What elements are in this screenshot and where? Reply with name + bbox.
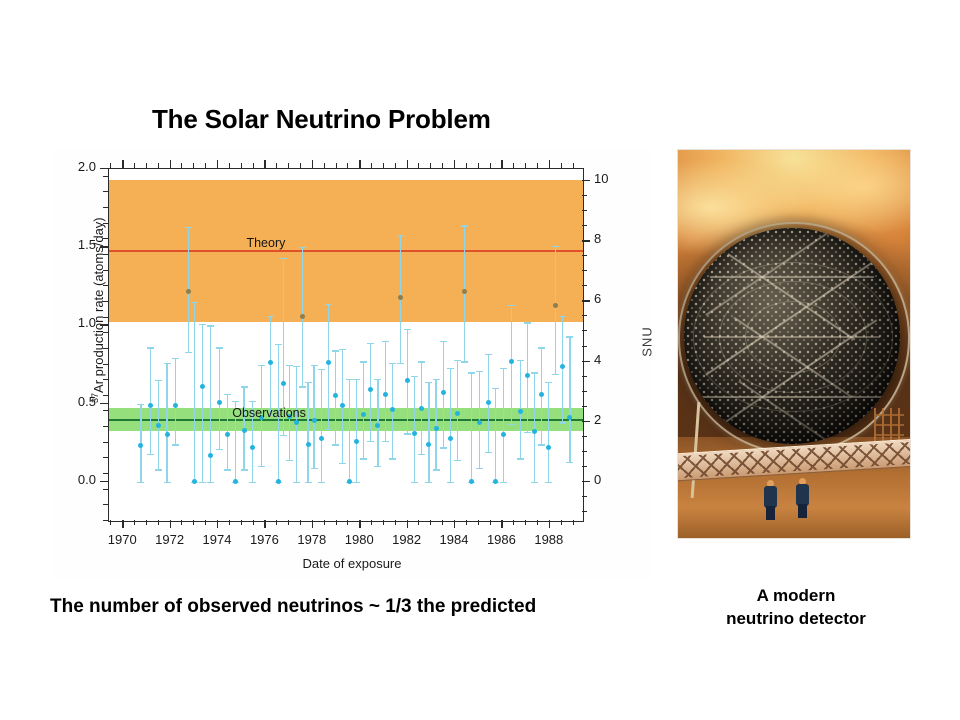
axis-tick: [170, 160, 171, 168]
axis-tick: [442, 163, 443, 168]
axis-tick: [537, 520, 538, 525]
error-bar-cap: [397, 235, 404, 236]
error-bar-cap: [241, 469, 248, 470]
error-bar-cap: [232, 401, 239, 402]
data-point: [455, 411, 460, 416]
axis-tick: [430, 163, 431, 168]
axis-tick: [478, 163, 479, 168]
axis-tick-label: 0: [594, 472, 628, 487]
error-bar: [457, 360, 458, 460]
data-point: [398, 295, 403, 300]
axis-tick-label: 4: [594, 352, 628, 367]
axis-tick: [103, 317, 108, 318]
error-bar-cap: [404, 433, 411, 434]
error-bar-cap: [293, 482, 300, 483]
error-bar: [428, 382, 429, 482]
error-bar-cap: [538, 444, 545, 445]
sphere-shading: [684, 228, 900, 444]
error-bar-cap: [552, 374, 559, 375]
error-bar-cap: [286, 365, 293, 366]
axis-tick: [300, 520, 301, 525]
error-bar: [548, 382, 549, 482]
axis-tick: [100, 246, 108, 247]
axis-tick: [582, 210, 587, 211]
axis-tick: [170, 520, 171, 528]
axis-tick: [110, 520, 111, 525]
error-bar-cap: [164, 363, 171, 364]
error-bar: [450, 368, 451, 482]
error-bar: [328, 304, 329, 429]
error-bar-cap: [433, 379, 440, 380]
error-bar-cap: [191, 302, 198, 303]
error-bar-cap: [389, 363, 396, 364]
error-bar-cap: [293, 366, 300, 367]
error-bar-cap: [531, 482, 538, 483]
axis-tick: [383, 163, 384, 168]
axis-tick: [288, 163, 289, 168]
axis-tick-label: 2.0: [54, 159, 96, 174]
data-point: [294, 420, 299, 425]
axis-tick: [122, 520, 123, 528]
axis-tick: [549, 160, 550, 168]
error-bar-cap: [566, 462, 573, 463]
data-point: [268, 360, 273, 365]
data-point: [340, 403, 345, 408]
error-bar-cap: [492, 388, 499, 389]
error-bar-cap: [280, 258, 287, 259]
worker-legs: [798, 504, 807, 518]
data-point: [532, 429, 537, 434]
error-bar-cap: [440, 447, 447, 448]
error-bar-cap: [332, 444, 339, 445]
data-point: [368, 387, 373, 392]
axis-tick: [181, 520, 182, 525]
axis-tick: [241, 520, 242, 525]
axis-tick: [466, 163, 467, 168]
axis-tick: [371, 163, 372, 168]
plot-area: Theory Observations: [108, 168, 584, 522]
data-point: [233, 479, 238, 484]
worker-body: [796, 484, 809, 506]
data-point: [560, 364, 565, 369]
error-bar: [569, 336, 570, 461]
data-point: [138, 443, 143, 448]
error-bar-cap: [346, 379, 353, 380]
data-point: [553, 303, 558, 308]
axis-tick: [276, 520, 277, 525]
axis-tick-label: 1988: [527, 532, 571, 547]
error-bar: [210, 325, 211, 481]
axis-tick: [103, 332, 108, 333]
axis-tick: [383, 520, 384, 525]
axis-tick: [103, 238, 108, 239]
error-bar: [219, 347, 220, 449]
worker-body: [764, 486, 777, 508]
error-bar-cap: [207, 482, 214, 483]
axis-tick: [513, 163, 514, 168]
axis-tick: [573, 520, 574, 525]
error-bar-cap: [508, 424, 515, 425]
error-bar: [166, 363, 167, 482]
axis-tick: [582, 270, 587, 271]
axis-tick: [582, 361, 590, 362]
data-point: [200, 384, 205, 389]
axis-tick: [103, 207, 108, 208]
axis-tick: [513, 520, 514, 525]
data-point: [493, 479, 498, 484]
error-bar-cap: [360, 458, 367, 459]
axis-tick: [324, 163, 325, 168]
axis-tick: [300, 163, 301, 168]
error-bar-cap: [382, 341, 389, 342]
error-bar-cap: [425, 482, 432, 483]
axis-tick: [359, 520, 360, 528]
error-bar-cap: [566, 336, 573, 337]
axis-tick: [336, 163, 337, 168]
axis-tick: [103, 457, 108, 458]
data-point: [434, 426, 439, 431]
data-point: [281, 381, 286, 386]
axis-tick: [454, 160, 455, 168]
axis-tick: [158, 520, 159, 525]
error-bar-cap: [374, 379, 381, 380]
axis-tick: [241, 163, 242, 168]
error-bar-cap: [332, 350, 339, 351]
axis-tick: [103, 191, 108, 192]
photo-caption-line1: A modern: [672, 584, 920, 607]
axis-tick: [582, 255, 587, 256]
data-point: [208, 453, 213, 458]
axis-tick: [158, 163, 159, 168]
error-bar-cap: [275, 344, 282, 345]
worker-legs: [766, 506, 775, 520]
data-point: [448, 436, 453, 441]
axis-tick: [407, 520, 408, 528]
axis-tick-label: 1982: [385, 532, 429, 547]
axis-tick: [430, 520, 431, 525]
error-bar-cap: [500, 482, 507, 483]
error-bar-cap: [147, 347, 154, 348]
axis-tick: [501, 520, 502, 528]
error-bar-cap: [305, 482, 312, 483]
axis-tick: [582, 451, 587, 452]
axis-tick: [359, 160, 360, 168]
error-bar-cap: [545, 482, 552, 483]
data-point: [525, 373, 530, 378]
error-bar: [562, 316, 563, 422]
axis-tick: [193, 163, 194, 168]
axis-tick-label: 1978: [290, 532, 334, 547]
axis-tick: [525, 520, 526, 525]
axis-tick: [103, 348, 108, 349]
axis-tick: [134, 163, 135, 168]
error-bar-cap: [485, 452, 492, 453]
axis-tick: [478, 520, 479, 525]
axis-tick: [103, 301, 108, 302]
axis-tick: [549, 520, 550, 528]
axis-tick: [288, 520, 289, 525]
error-bar-cap: [404, 329, 411, 330]
error-bar-cap: [545, 382, 552, 383]
observations-annotation: Observations: [232, 406, 306, 420]
data-point: [333, 393, 338, 398]
solar-neutrino-chart: 37Ar production rate (atoms/day) SNU Dat…: [52, 148, 652, 580]
error-bar: [555, 246, 556, 374]
error-bar-cap: [517, 458, 524, 459]
error-bar-cap: [147, 454, 154, 455]
data-point: [509, 359, 514, 364]
axis-tick: [418, 163, 419, 168]
error-bar-cap: [447, 368, 454, 369]
axis-tick: [582, 315, 587, 316]
error-bar-cap: [367, 343, 374, 344]
error-bar-cap: [199, 482, 206, 483]
photo-caption: A modern neutrino detector: [672, 584, 920, 631]
axis-tick: [103, 489, 108, 490]
y2-axis-label: SNU: [640, 312, 655, 372]
axis-tick-label: 1980: [337, 532, 381, 547]
error-bar-cap: [172, 358, 179, 359]
error-bar: [511, 305, 512, 424]
axis-tick-label: 8: [594, 231, 628, 246]
axis-tick: [103, 285, 108, 286]
axis-tick: [103, 270, 108, 271]
error-bar-cap: [454, 460, 461, 461]
axis-tick: [103, 504, 108, 505]
error-bar-cap: [216, 347, 223, 348]
axis-tick: [103, 223, 108, 224]
axis-tick: [490, 520, 491, 525]
error-bar-cap: [433, 469, 440, 470]
detector-sphere: [684, 228, 900, 444]
axis-tick: [205, 163, 206, 168]
axis-tick: [347, 520, 348, 525]
axis-tick: [442, 520, 443, 525]
sno-neutrino-detector-photo: [678, 150, 910, 538]
error-bar-cap: [454, 360, 461, 361]
axis-tick-label: 6: [594, 291, 628, 306]
error-bar-cap: [325, 304, 332, 305]
axis-tick-label: 2: [594, 412, 628, 427]
axis-tick: [525, 163, 526, 168]
axis-tick: [582, 225, 587, 226]
error-bar: [321, 369, 322, 482]
data-point: [412, 431, 417, 436]
data-point: [405, 378, 410, 383]
axis-tick: [573, 163, 574, 168]
error-bar-cap: [258, 466, 265, 467]
error-bar-cap: [559, 422, 566, 423]
error-bar-cap: [508, 305, 515, 306]
axis-tick: [103, 176, 108, 177]
error-bar-cap: [559, 316, 566, 317]
error-bar: [435, 379, 436, 470]
data-point: [242, 428, 247, 433]
error-bar-cap: [299, 386, 306, 387]
data-point: [347, 479, 352, 484]
axis-tick: [582, 330, 587, 331]
error-bar-cap: [199, 324, 206, 325]
error-bar-cap: [137, 404, 144, 405]
axis-tick: [103, 364, 108, 365]
error-bar-cap: [286, 460, 293, 461]
error-bar-cap: [538, 347, 545, 348]
axis-tick: [103, 520, 108, 521]
axis-tick: [336, 520, 337, 525]
theory-line: [109, 250, 583, 251]
axis-tick: [205, 520, 206, 525]
data-point: [148, 403, 153, 408]
axis-tick: [100, 324, 108, 325]
axis-tick: [110, 163, 111, 168]
axis-tick: [100, 403, 108, 404]
axis-tick: [561, 520, 562, 525]
axis-tick-label: 1984: [432, 532, 476, 547]
data-point: [383, 392, 388, 397]
error-bar-cap: [249, 401, 256, 402]
error-bar-cap: [476, 371, 483, 372]
axis-tick: [103, 473, 108, 474]
axis-tick: [103, 426, 108, 427]
axis-tick: [582, 376, 587, 377]
data-point: [192, 479, 197, 484]
error-bar: [534, 372, 535, 482]
axis-tick: [582, 285, 587, 286]
axis-tick: [582, 240, 590, 241]
axis-tick: [122, 160, 123, 168]
axis-tick: [103, 395, 108, 396]
axis-tick: [490, 163, 491, 168]
axis-tick: [312, 520, 313, 528]
error-bar: [356, 379, 357, 482]
error-bar-cap: [418, 361, 425, 362]
error-bar-cap: [531, 372, 538, 373]
axis-tick: [407, 160, 408, 168]
error-bar-cap: [185, 227, 192, 228]
error-bar-cap: [353, 482, 360, 483]
error-bar: [202, 324, 203, 482]
axis-tick: [582, 421, 590, 422]
axis-tick: [561, 163, 562, 168]
slide-root: The Solar Neutrino Problem 37Ar producti…: [0, 0, 960, 720]
error-bar-cap: [367, 441, 374, 442]
axis-tick: [100, 168, 108, 169]
theory-annotation: Theory: [246, 236, 285, 250]
axis-tick: [217, 520, 218, 528]
error-bar-cap: [374, 466, 381, 467]
error-bar-cap: [299, 247, 306, 248]
worker-figure: [796, 478, 809, 518]
error-bar: [175, 358, 176, 444]
data-point: [276, 479, 281, 484]
data-point: [441, 390, 446, 395]
axis-tick: [347, 163, 348, 168]
data-point: [165, 432, 170, 437]
error-bar-cap: [500, 368, 507, 369]
axis-tick: [582, 406, 587, 407]
photo-caption-line2: neutrino detector: [672, 607, 920, 630]
axis-tick-label: 10: [594, 171, 628, 186]
axis-tick: [454, 520, 455, 528]
error-bar: [471, 372, 472, 482]
axis-tick: [103, 442, 108, 443]
axis-tick: [582, 481, 590, 482]
error-bar-cap: [207, 325, 214, 326]
error-bar-cap: [185, 352, 192, 353]
error-bar-cap: [461, 225, 468, 226]
error-bar-cap: [325, 429, 332, 430]
axis-tick: [146, 163, 147, 168]
error-bar-cap: [461, 361, 468, 362]
error-bar-cap: [305, 382, 312, 383]
axis-tick: [193, 520, 194, 525]
error-bar-cap: [418, 454, 425, 455]
error-bar-cap: [382, 441, 389, 442]
error-bar-cap: [267, 316, 274, 317]
error-bar-cap: [360, 361, 367, 362]
error-bar-cap: [339, 463, 346, 464]
axis-tick-label: 0.5: [54, 394, 96, 409]
error-bar-cap: [411, 482, 418, 483]
axis-tick: [146, 520, 147, 525]
axis-tick: [134, 520, 135, 525]
axis-tick: [100, 481, 108, 482]
axis-tick-label: 1986: [479, 532, 523, 547]
axis-tick: [276, 163, 277, 168]
error-bar: [363, 361, 364, 458]
axis-tick: [371, 520, 372, 525]
error-bar-cap: [241, 386, 248, 387]
data-point: [225, 432, 230, 437]
error-bar-cap: [318, 369, 325, 370]
axis-tick: [582, 496, 587, 497]
axis-tick: [582, 180, 590, 181]
axis-tick: [103, 379, 108, 380]
data-point: [539, 392, 544, 397]
chart-caption: The number of observed neutrinos ~ 1/3 t…: [50, 596, 610, 618]
error-bar-cap: [280, 435, 287, 436]
error-bar-cap: [485, 354, 492, 355]
error-bar-cap: [468, 372, 475, 373]
data-point: [319, 436, 324, 441]
axis-tick-label: 1.0: [54, 315, 96, 330]
axis-tick-label: 1.5: [54, 237, 96, 252]
x-axis-label: Date of exposure: [52, 556, 652, 571]
axis-tick: [264, 520, 265, 528]
error-bar-cap: [311, 468, 318, 469]
data-point: [518, 409, 523, 414]
error-bar-cap: [517, 360, 524, 361]
data-point: [501, 432, 506, 437]
error-bar-cap: [311, 365, 318, 366]
axis-tick: [582, 300, 590, 301]
axis-tick: [264, 160, 265, 168]
axis-tick: [582, 466, 587, 467]
axis-tick: [324, 520, 325, 525]
error-bar: [495, 388, 496, 482]
error-bar-cap: [172, 444, 179, 445]
error-bar-cap: [155, 380, 162, 381]
error-bar-cap: [164, 482, 171, 483]
axis-tick: [103, 254, 108, 255]
error-bar-cap: [258, 365, 265, 366]
error-bar: [150, 347, 151, 453]
error-bar-cap: [447, 482, 454, 483]
axis-tick: [217, 160, 218, 168]
axis-tick: [103, 410, 108, 411]
axis-tick: [229, 163, 230, 168]
axis-tick: [466, 520, 467, 525]
